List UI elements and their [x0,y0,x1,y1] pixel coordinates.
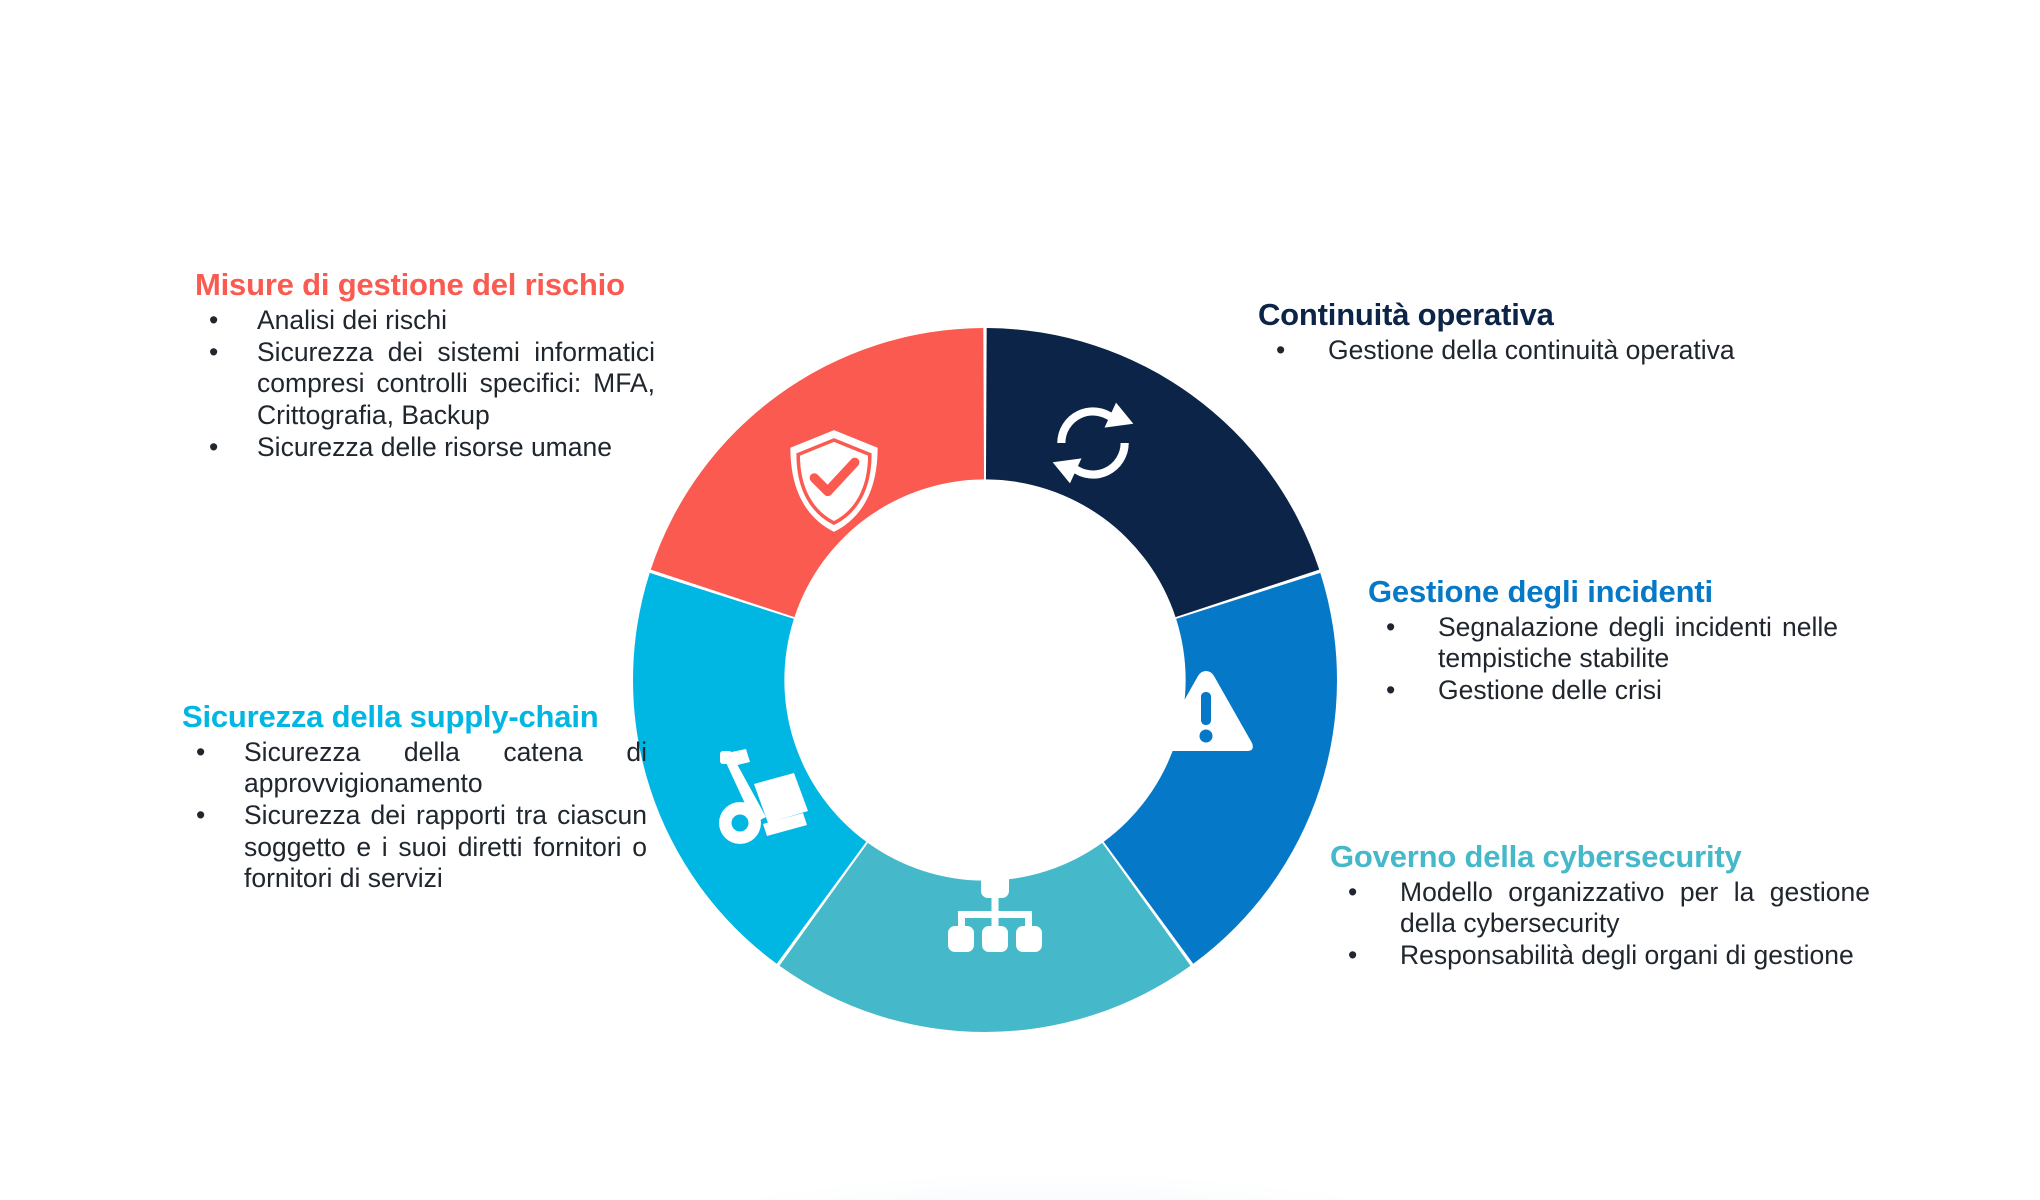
list-item-label: Sicurezza dei rapporti tra ciascun sogge… [244,800,647,893]
bullet-glyph: • [1386,612,1395,643]
bullet-list-cybersecurity-governance: •Modello organizzativo per la gestione d… [1330,877,1870,972]
bullet-list-incident-management: •Segnalazione degli incidenti nelle temp… [1368,612,1838,707]
list-item-label: Modello organizzativo per la gestione de… [1400,877,1870,938]
heading-incident-management: Gestione degli incidenti [1368,575,1838,609]
list-item: •Sicurezza dei sistemi informatici compr… [195,337,655,431]
text-block-business-continuity: Continuità operativa •Gestione della con… [1258,298,1743,367]
heading-risk-management: Misure di gestione del rischio [195,268,655,302]
list-item-label: Gestione della continuità operativa [1328,335,1735,365]
bullet-glyph: • [1386,675,1395,706]
list-item: •Sicurezza delle risorse umane [195,432,655,463]
bullet-glyph: • [209,432,218,463]
bullet-glyph: • [1348,940,1357,971]
bullet-glyph: • [196,737,205,768]
list-item-label: Sicurezza delle risorse umane [257,432,612,462]
list-item-label: Sicurezza della catena di approvvigionam… [244,737,647,798]
list-item: •Segnalazione degli incidenti nelle temp… [1368,612,1838,675]
list-item: •Analisi dei rischi [195,305,655,336]
bullet-glyph: • [209,305,218,336]
list-item-label: Sicurezza dei sistemi informatici compre… [257,337,655,430]
list-item: •Gestione della continuità operativa [1258,335,1743,366]
list-item-label: Responsabilità degli organi di gestione [1400,940,1854,970]
donut-slice-shield-check[interactable] [651,328,984,617]
heading-business-continuity: Continuità operativa [1258,298,1743,332]
list-item: •Responsabilità degli organi di gestione [1330,940,1870,971]
bullet-glyph: • [1348,877,1357,908]
list-item-label: Segnalazione degli incidenti nelle tempi… [1438,612,1838,673]
donut-slice-sync[interactable] [986,328,1319,617]
list-item: •Sicurezza della catena di approvvigiona… [182,737,647,800]
bullet-glyph: • [209,337,218,368]
bullet-list-risk-management: •Analisi dei rischi •Sicurezza dei siste… [195,305,655,463]
bullet-glyph: • [196,800,205,831]
list-item: •Gestione delle crisi [1368,675,1838,706]
bullet-list-supply-chain: •Sicurezza della catena di approvvigiona… [182,737,647,894]
text-block-cybersecurity-governance: Governo della cybersecurity •Modello org… [1330,840,1870,973]
bullet-glyph: • [1276,335,1285,366]
text-block-incident-management: Gestione degli incidenti •Segnalazione d… [1368,575,1838,708]
donut-chart [630,325,1340,1035]
slide-canvas: Misure di gestione del rischio •Analisi … [0,0,2040,1200]
list-item: •Modello organizzativo per la gestione d… [1330,877,1870,940]
list-item: •Sicurezza dei rapporti tra ciascun sogg… [182,800,647,894]
heading-cybersecurity-governance: Governo della cybersecurity [1330,840,1870,874]
heading-supply-chain: Sicurezza della supply-chain [182,700,647,734]
bullet-list-business-continuity: •Gestione della continuità operativa [1258,335,1743,366]
text-block-supply-chain: Sicurezza della supply-chain •Sicurezza … [182,700,647,895]
text-block-risk-management: Misure di gestione del rischio •Analisi … [195,268,655,464]
donut-svg [630,325,1340,1035]
list-item-label: Gestione delle crisi [1438,675,1662,705]
list-item-label: Analisi dei rischi [257,305,447,335]
